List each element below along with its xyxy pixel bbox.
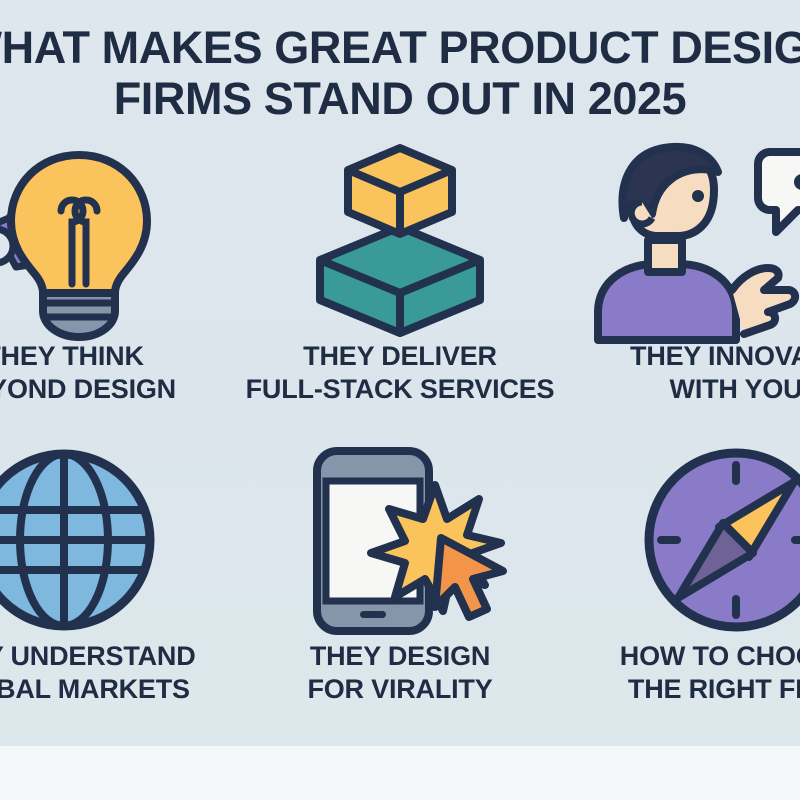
stacked-cubes-icon: [232, 140, 568, 340]
feature-label-line-2: WITH YOU: [571, 373, 800, 406]
feature-label-line-2: GLOBAL MARKETS: [0, 673, 229, 706]
feature-label: THEY INNOVATE WITH YOU: [571, 340, 800, 406]
people-speech-bubble-icon: [568, 140, 800, 340]
title-line-2: FIRMS STAND OUT IN 2025: [0, 73, 800, 124]
feature-label: THEY UNDERSTAND GLOBAL MARKETS: [0, 640, 229, 706]
lightbulb-gear-icon: [0, 140, 232, 340]
feature-card-choose-right-firm: HOW TO CHOOSE THE RIGHT FIRM: [568, 440, 800, 740]
feature-label-line-2: FULL-STACK SERVICES: [235, 373, 565, 406]
feature-label-line-1: THEY DESIGN: [310, 641, 490, 671]
globe-icon: [0, 440, 232, 640]
feature-card-think-beyond-design: THEY THINK BEYOND DESIGN: [0, 140, 232, 440]
feature-label: THEY THINK BEYOND DESIGN: [0, 340, 229, 406]
title-line-1: WHAT MAKES GREAT PRODUCT DESIGN: [0, 22, 800, 73]
feature-label: THEY DESIGN FOR VIRALITY: [235, 640, 565, 706]
infographic-poster: WHAT MAKES GREAT PRODUCT DESIGN FIRMS ST…: [0, 0, 800, 746]
feature-label-line-2: BEYOND DESIGN: [0, 373, 229, 406]
feature-card-innovate-with-you: THEY INNOVATE WITH YOU: [568, 140, 800, 440]
poster-title: WHAT MAKES GREAT PRODUCT DESIGN FIRMS ST…: [0, 22, 800, 124]
feature-grid: THEY THINK BEYOND DESIGN: [0, 140, 800, 740]
feature-label-line-1: THEY INNOVATE: [630, 341, 800, 371]
feature-label-line-1: THEY UNDERSTAND: [0, 641, 196, 671]
feature-label: THEY DELIVER FULL-STACK SERVICES: [235, 340, 565, 406]
feature-card-global-markets: THEY UNDERSTAND GLOBAL MARKETS: [0, 440, 232, 740]
feature-label-line-2: THE RIGHT FIRM: [571, 673, 800, 706]
feature-label-line-1: HOW TO CHOOSE: [620, 641, 800, 671]
compass-icon: [568, 440, 800, 640]
infographic-canvas: WHAT MAKES GREAT PRODUCT DESIGN FIRMS ST…: [0, 0, 800, 800]
feature-label-line-1: THEY DELIVER: [303, 341, 497, 371]
feature-label-line-2: FOR VIRALITY: [235, 673, 565, 706]
feature-label-line-1: THEY THINK: [0, 341, 144, 371]
feature-card-full-stack-services: THEY DELIVER FULL-STACK SERVICES: [232, 140, 568, 440]
page-background-strip: [0, 746, 800, 800]
phone-click-icon: [232, 440, 568, 640]
feature-card-design-for-virality: THEY DESIGN FOR VIRALITY: [232, 440, 568, 740]
feature-label: HOW TO CHOOSE THE RIGHT FIRM: [571, 640, 800, 706]
